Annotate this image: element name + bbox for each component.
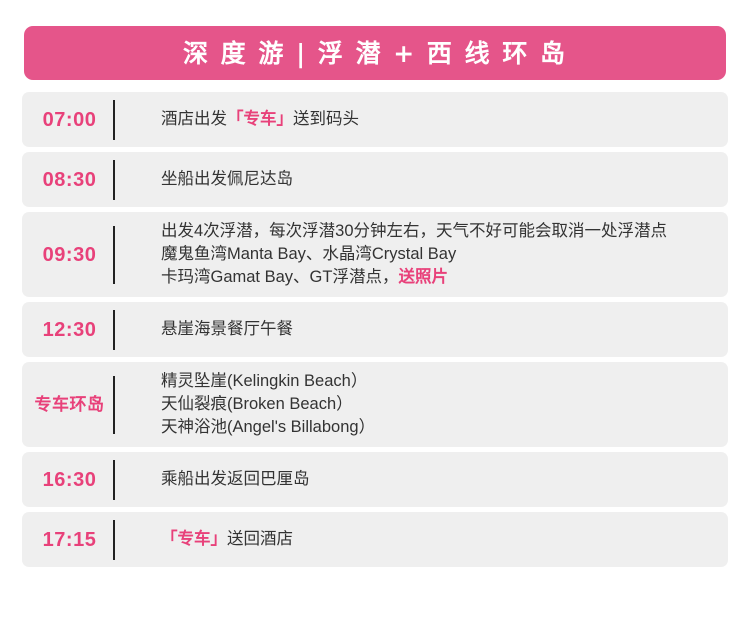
plain-text: 精灵坠崖(Kelingkin Beach） bbox=[161, 372, 367, 390]
schedule-row-time: 17:15 bbox=[43, 530, 97, 550]
schedule-row-time-cell: 07:00 bbox=[22, 92, 113, 147]
schedule-row-content: 酒店出发「专车」送到码头 bbox=[115, 92, 728, 147]
schedule-row-time: 09:30 bbox=[43, 245, 97, 265]
schedule-row: 08:30坐船出发佩尼达岛 bbox=[22, 152, 728, 207]
schedule-row-line: 出发4次浮潜，每次浮潜30分钟左右，天气不好可能会取消一处浮潜点 bbox=[161, 220, 710, 243]
schedule-row-content: 坐船出发佩尼达岛 bbox=[115, 152, 728, 207]
schedule-row-line: 乘船出发返回巴厘岛 bbox=[161, 468, 710, 491]
page-title: 深 度 游 | 浮 潜 + 西 线 环 岛 bbox=[183, 41, 567, 66]
highlighted-text: 送照片 bbox=[398, 268, 448, 286]
schedule-row-line: 精灵坠崖(Kelingkin Beach） bbox=[161, 370, 710, 393]
schedule-list: 07:00酒店出发「专车」送到码头08:30坐船出发佩尼达岛09:30出发4次浮… bbox=[22, 92, 728, 567]
plain-text: 悬崖海景餐厅午餐 bbox=[161, 320, 293, 338]
schedule-row: 17:15「专车」送回酒店 bbox=[22, 512, 728, 567]
plain-text: 坐船出发佩尼达岛 bbox=[161, 170, 293, 188]
plain-text: 天仙裂痕(Broken Beach） bbox=[161, 395, 353, 413]
highlighted-text: 「专车」 bbox=[227, 110, 293, 128]
plain-text: 送回酒店 bbox=[227, 530, 293, 548]
highlighted-text: 「专车」 bbox=[161, 530, 227, 548]
schedule-row-time-cell: 16:30 bbox=[22, 452, 113, 507]
itinerary-header-banner: 深 度 游 | 浮 潜 + 西 线 环 岛 bbox=[24, 26, 726, 80]
schedule-row: 12:30悬崖海景餐厅午餐 bbox=[22, 302, 728, 357]
schedule-row-label: 专车环岛 bbox=[35, 396, 105, 413]
schedule-row-content: 「专车」送回酒店 bbox=[115, 512, 728, 567]
plain-text: 送到码头 bbox=[293, 110, 359, 128]
schedule-row: 07:00酒店出发「专车」送到码头 bbox=[22, 92, 728, 147]
plain-text: 魔鬼鱼湾Manta Bay、水晶湾Crystal Bay bbox=[161, 245, 456, 263]
itinerary-page: 深 度 游 | 浮 潜 + 西 线 环 岛 07:00酒店出发「专车」送到码头0… bbox=[0, 0, 750, 630]
schedule-row-time-cell: 12:30 bbox=[22, 302, 113, 357]
schedule-row-line: 悬崖海景餐厅午餐 bbox=[161, 318, 710, 341]
schedule-row-time: 07:00 bbox=[43, 110, 97, 130]
plain-text: 卡玛湾Gamat Bay、GT浮潜点， bbox=[161, 268, 398, 286]
schedule-row-time: 08:30 bbox=[43, 170, 97, 190]
schedule-row: 专车环岛精灵坠崖(Kelingkin Beach）天仙裂痕(Broken Bea… bbox=[22, 362, 728, 447]
schedule-row-content: 乘船出发返回巴厘岛 bbox=[115, 452, 728, 507]
schedule-row-content: 出发4次浮潜，每次浮潜30分钟左右，天气不好可能会取消一处浮潜点魔鬼鱼湾Mant… bbox=[115, 212, 728, 297]
schedule-row-line: 卡玛湾Gamat Bay、GT浮潜点，送照片 bbox=[161, 266, 710, 289]
plain-text: 天神浴池(Angel's Billabong） bbox=[161, 418, 375, 436]
plain-text: 出发4次浮潜，每次浮潜30分钟左右，天气不好可能会取消一处浮潜点 bbox=[161, 222, 667, 240]
schedule-row-line: 「专车」送回酒店 bbox=[161, 528, 710, 551]
schedule-row-time: 12:30 bbox=[43, 320, 97, 340]
schedule-row-line: 酒店出发「专车」送到码头 bbox=[161, 108, 710, 131]
schedule-row-time-cell: 08:30 bbox=[22, 152, 113, 207]
plain-text: 乘船出发返回巴厘岛 bbox=[161, 470, 310, 488]
schedule-row-content: 精灵坠崖(Kelingkin Beach）天仙裂痕(Broken Beach）天… bbox=[115, 362, 728, 447]
schedule-row-time: 16:30 bbox=[43, 470, 97, 490]
schedule-row-line: 坐船出发佩尼达岛 bbox=[161, 168, 710, 191]
schedule-row-line: 魔鬼鱼湾Manta Bay、水晶湾Crystal Bay bbox=[161, 243, 710, 266]
schedule-row-line: 天仙裂痕(Broken Beach） bbox=[161, 393, 710, 416]
schedule-row: 16:30乘船出发返回巴厘岛 bbox=[22, 452, 728, 507]
schedule-row-time-cell: 09:30 bbox=[22, 212, 113, 297]
schedule-row-time-cell: 17:15 bbox=[22, 512, 113, 567]
schedule-row-time-cell: 专车环岛 bbox=[22, 362, 113, 447]
schedule-row-line: 天神浴池(Angel's Billabong） bbox=[161, 416, 710, 439]
schedule-row: 09:30出发4次浮潜，每次浮潜30分钟左右，天气不好可能会取消一处浮潜点魔鬼鱼… bbox=[22, 212, 728, 297]
plain-text: 酒店出发 bbox=[161, 110, 227, 128]
schedule-row-content: 悬崖海景餐厅午餐 bbox=[115, 302, 728, 357]
